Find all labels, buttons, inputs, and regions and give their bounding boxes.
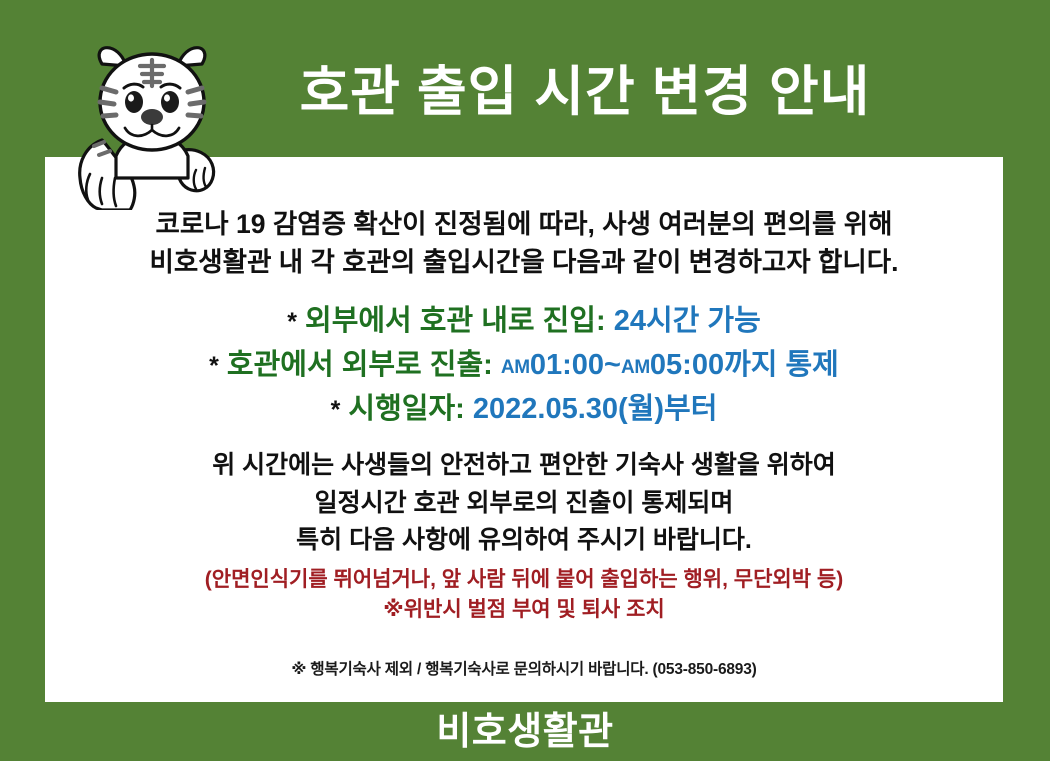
am-prefix-start: AM [501,357,530,378]
bullet-value: 24시간 가능 [614,305,761,337]
poster-footer: 비호생활관 [0,702,1050,761]
bullet-item-entry: * 외부에서 호관 내로 진입: 24시간 가능 [67,299,981,343]
warning-line-2: ※위반시 벌점 부여 및 퇴사 조치 [67,595,981,625]
white-tiger-mascot-icon [72,38,232,210]
bullet-label: 호관에서 외부로 진출: [227,349,493,381]
warning-line-1: (안면인식기를 뛰어넘거나, 앞 사람 뒤에 붙어 출입하는 행위, 무단외박 … [67,565,981,595]
bullet-item-exit: * 호관에서 외부로 진출: AM01:00~AM05:00까지 통제 [67,343,981,387]
notice-panel: 코로나 19 감염증 확산이 진정됨에 따라, 사생 여러분의 편의를 위해 비… [45,157,1003,702]
bullet-star: * [331,396,341,424]
notice-line-2: 일정시간 호관 외부로의 진출이 통제되며 [67,485,981,523]
contact-footnote: ※ 행복기숙사 제외 / 행복기숙사로 문의하시기 바랍니다. (053-850… [67,657,981,679]
page-title: 호관 출입 시간 변경 안내 [240,64,930,121]
bullet-value-end: 05:00까지 통제 [650,349,839,381]
bullet-star: * [287,308,297,336]
bullet-list: * 외부에서 호관 내로 진입: 24시간 가능 * 호관에서 외부로 진출: … [67,299,981,431]
intro-paragraph: 코로나 19 감염증 확산이 진정됨에 따라, 사생 여러분의 편의를 위해 비… [67,206,981,281]
warning-paragraph: (안면인식기를 뛰어넘거나, 앞 사람 뒤에 붙어 출입하는 행위, 무단외박 … [67,565,981,626]
intro-line-2: 비호생활관 내 각 호관의 출입시간을 다음과 같이 변경하고자 합니다. [67,244,981,282]
bullet-label: 시행일자: [348,393,464,425]
notice-paragraph: 위 시간에는 사생들의 안전하고 편안한 기숙사 생활을 위하여 일정시간 호관… [67,447,981,560]
notice-panel-inner: 코로나 19 감염증 확산이 진정됨에 따라, 사생 여러분의 편의를 위해 비… [45,157,1003,702]
bullet-star: * [209,352,219,380]
bullet-item-effective-date: * 시행일자: 2022.05.30(월)부터 [67,387,981,431]
bullet-label: 외부에서 호관 내로 진입: [305,305,606,337]
bullet-value: 2022.05.30(월)부터 [473,393,718,425]
bullet-value-start: 01:00~ [530,349,621,381]
notice-line-3: 특히 다음 사항에 유의하여 주시기 바랍니다. [67,522,981,560]
dormitory-name-label: 비호생활관 [436,713,613,751]
intro-line-1: 코로나 19 감염증 확산이 진정됨에 따라, 사생 여러분의 편의를 위해 [67,206,981,244]
notice-line-1: 위 시간에는 사생들의 안전하고 편안한 기숙사 생활을 위하여 [67,447,981,485]
am-prefix-end: AM [621,357,650,378]
